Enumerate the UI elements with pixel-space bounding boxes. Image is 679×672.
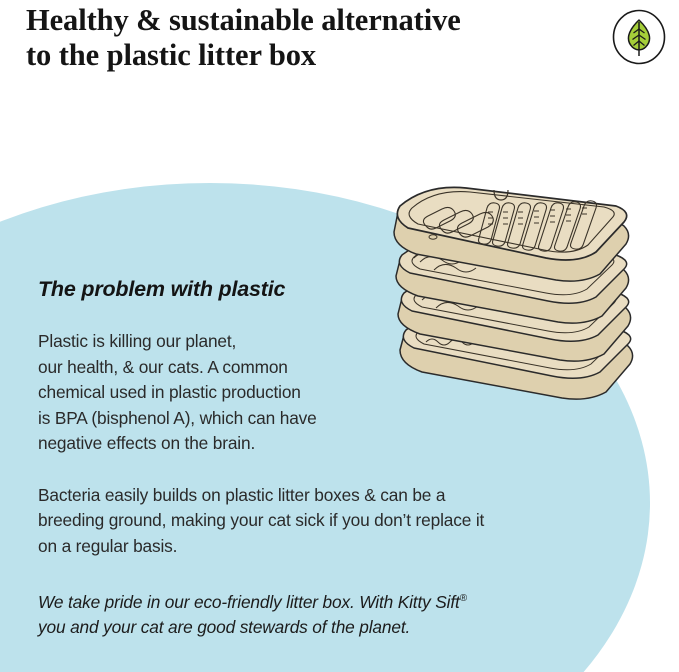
paragraph-bacteria: Bacteria easily builds on plastic litter… bbox=[38, 483, 558, 560]
leaf-badge bbox=[611, 9, 667, 65]
paragraph-brand-promise: We take pride in our eco-friendly litter… bbox=[38, 586, 558, 641]
header: Healthy & sustainable alternative to the… bbox=[0, 0, 679, 100]
product-infographic-page: Healthy & sustainable alternative to the… bbox=[0, 0, 679, 672]
paragraph-line: is BPA (bisphenol A), which can have bbox=[38, 406, 383, 432]
paragraph-line: We take pride in our eco-friendly litter… bbox=[38, 586, 558, 615]
paragraph-line: chemical used in plastic production bbox=[38, 380, 383, 406]
paragraph-line: on a regular basis. bbox=[38, 534, 558, 560]
paragraph-line: our health, & our cats. A common bbox=[38, 355, 383, 381]
paragraph-problem: Plastic is killing our planet, our healt… bbox=[38, 329, 383, 457]
paragraph-line: negative effects on the brain. bbox=[38, 431, 383, 457]
copy-block: The problem with plastic Plastic is kill… bbox=[38, 276, 598, 641]
page-title-line-1: Healthy & sustainable alternative bbox=[26, 3, 586, 38]
paragraph-line: Bacteria easily builds on plastic litter… bbox=[38, 483, 558, 509]
leaf-icon bbox=[611, 9, 667, 65]
registered-mark: ® bbox=[460, 593, 467, 604]
paragraph-line: breeding ground, making your cat sick if… bbox=[38, 508, 558, 534]
paragraph-line: you and your cat are good stewards of th… bbox=[38, 615, 558, 641]
brand-promise-text: We take pride in our eco-friendly litter… bbox=[38, 592, 460, 612]
page-title: Healthy & sustainable alternative to the… bbox=[26, 3, 586, 73]
paragraph-line: Plastic is killing our planet, bbox=[38, 329, 383, 355]
page-title-line-2: to the plastic litter box bbox=[26, 38, 586, 73]
section-heading: The problem with plastic bbox=[38, 276, 598, 302]
